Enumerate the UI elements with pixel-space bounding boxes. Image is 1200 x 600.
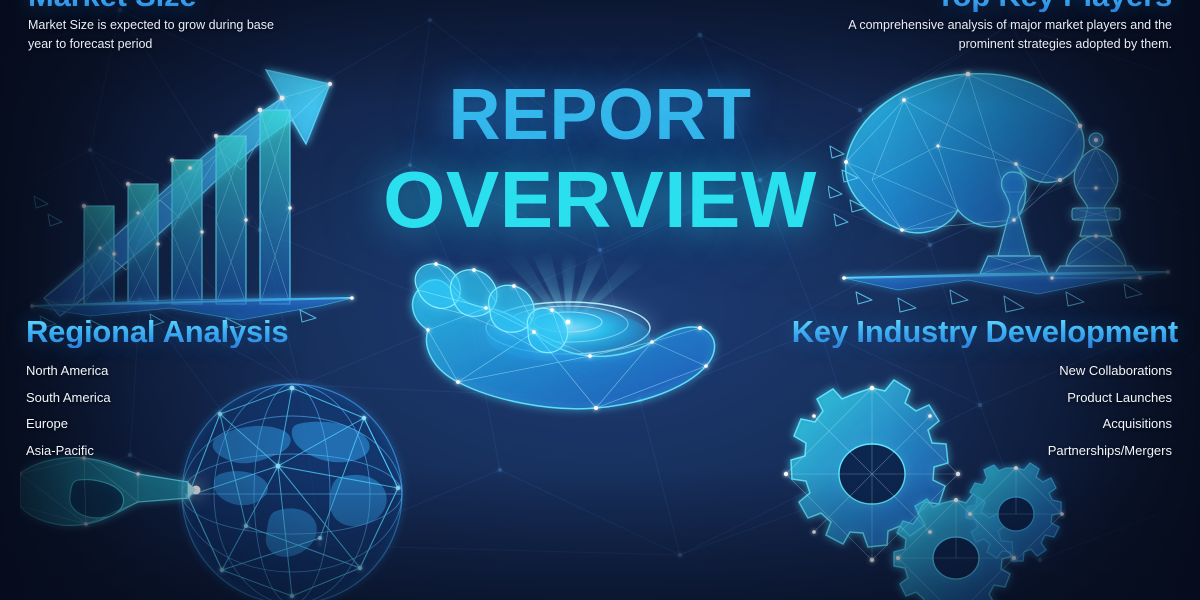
top-key-players-subtitle: A comprehensive analysis of major market… xyxy=(820,16,1172,54)
list-item: North America xyxy=(26,364,111,377)
top-key-players-title: Top Key Players xyxy=(936,0,1172,12)
market-size-title: Market Size xyxy=(28,0,196,12)
list-item: Acquisitions xyxy=(1048,417,1172,430)
list-item: Asia-Pacific xyxy=(26,444,111,457)
list-item: Product Launches xyxy=(1048,391,1172,404)
list-item: Partnerships/Mergers xyxy=(1048,444,1172,457)
regional-analysis-title: Regional Analysis xyxy=(26,316,288,348)
edge-vignette xyxy=(0,0,1200,600)
market-size-subtitle: Market Size is expected to grow during b… xyxy=(28,16,300,54)
regional-analysis-list: North America South America Europe Asia-… xyxy=(26,364,111,470)
key-industry-development-list: New Collaborations Product Launches Acqu… xyxy=(1048,364,1172,470)
list-item: South America xyxy=(26,391,111,404)
key-industry-development-title: Key Industry Development xyxy=(792,316,1178,348)
list-item: Europe xyxy=(26,417,111,430)
infographic-canvas: Market Size Market Size is expected to g… xyxy=(0,0,1200,600)
list-item: New Collaborations xyxy=(1048,364,1172,377)
